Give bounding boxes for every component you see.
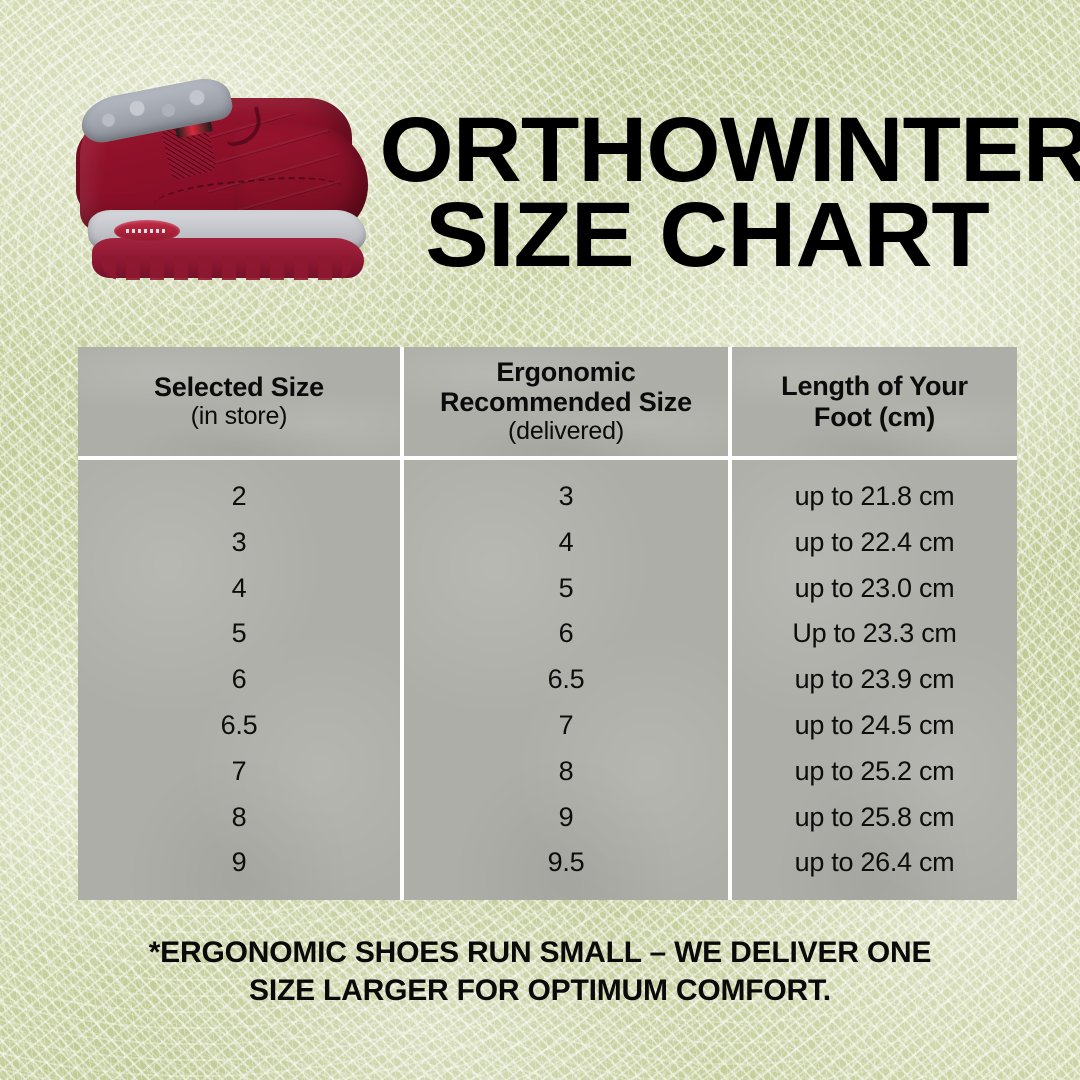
cell-selected-size: 5 bbox=[232, 611, 247, 657]
cell-selected-size: 3 bbox=[232, 520, 247, 566]
cell-selected-size: 4 bbox=[232, 566, 247, 612]
cell-selected-size: 6.5 bbox=[221, 703, 258, 749]
cell-foot-length: up to 25.2 cm bbox=[795, 749, 955, 795]
boot-logo-badge bbox=[114, 220, 180, 242]
cell-foot-length: up to 23.0 cm bbox=[795, 566, 955, 612]
table-header-row: Selected Size (in store) ErgonomicRecomm… bbox=[78, 347, 1017, 456]
cell-foot-length: up to 23.9 cm bbox=[795, 657, 955, 703]
boot-illustration bbox=[58, 62, 378, 302]
cell-recommended-size: 8 bbox=[559, 749, 574, 795]
column-foot-length: up to 21.8 cmup to 22.4 cmup to 23.0 cmU… bbox=[732, 460, 1017, 900]
cell-recommended-size: 9 bbox=[559, 795, 574, 841]
product-image-boot bbox=[58, 62, 378, 302]
cell-selected-size: 6 bbox=[232, 657, 247, 703]
cell-foot-length: up to 21.8 cm bbox=[795, 474, 955, 520]
cell-recommended-size: 4 bbox=[559, 520, 574, 566]
cell-selected-size: 9 bbox=[232, 840, 247, 886]
column-recommended-size: 34566.57899.5 bbox=[404, 460, 728, 900]
table-body: 234566.5789 34566.57899.5 up to 21.8 cmu… bbox=[78, 460, 1017, 900]
footer-line-2: SIZE LARGER FOR OPTIMUM COMFORT. bbox=[90, 972, 990, 1010]
header-recommended-size-main: ErgonomicRecommended Size bbox=[440, 357, 692, 417]
header-selected-size-main: Selected Size bbox=[154, 372, 324, 402]
header-foot-length: Length of YourFoot (cm) bbox=[732, 347, 1017, 456]
cell-selected-size: 7 bbox=[232, 749, 247, 795]
header-selected-size: Selected Size (in store) bbox=[78, 347, 400, 456]
size-chart-poster: ORTHOWINTER SIZE CHART Selected Size (in… bbox=[0, 0, 1080, 1080]
header-recommended-size-sub: (delivered) bbox=[508, 417, 624, 446]
cell-selected-size: 2 bbox=[232, 474, 247, 520]
footer-line-1: *ERGONOMIC SHOES RUN SMALL – WE DELIVER … bbox=[90, 934, 990, 972]
page-title: ORTHOWINTER SIZE CHART bbox=[392, 108, 1022, 277]
cell-recommended-size: 9.5 bbox=[548, 840, 585, 886]
size-chart-table: Selected Size (in store) ErgonomicRecomm… bbox=[78, 347, 1017, 900]
header-foot-length-main: Length of YourFoot (cm) bbox=[781, 371, 968, 431]
cell-selected-size: 8 bbox=[232, 795, 247, 841]
cell-recommended-size: 6.5 bbox=[548, 657, 585, 703]
boot-tread-lugs bbox=[102, 256, 352, 280]
cell-foot-length: up to 24.5 cm bbox=[795, 703, 955, 749]
cell-foot-length: up to 25.8 cm bbox=[795, 795, 955, 841]
cell-foot-length: Up to 23.3 cm bbox=[792, 611, 956, 657]
cell-recommended-size: 3 bbox=[559, 474, 574, 520]
column-selected-size: 234566.5789 bbox=[78, 460, 400, 900]
cell-recommended-size: 6 bbox=[559, 611, 574, 657]
header-selected-size-sub: (in store) bbox=[191, 402, 288, 431]
cell-foot-length: up to 22.4 cm bbox=[795, 520, 955, 566]
footer-disclaimer: *ERGONOMIC SHOES RUN SMALL – WE DELIVER … bbox=[90, 934, 990, 1011]
header-recommended-size: ErgonomicRecommended Size (delivered) bbox=[404, 347, 728, 456]
cell-recommended-size: 7 bbox=[559, 703, 574, 749]
cell-recommended-size: 5 bbox=[559, 566, 574, 612]
title-line-1: ORTHOWINTER bbox=[379, 108, 1034, 193]
title-line-2: SIZE CHART bbox=[379, 193, 1034, 278]
cell-foot-length: up to 26.4 cm bbox=[795, 840, 955, 886]
